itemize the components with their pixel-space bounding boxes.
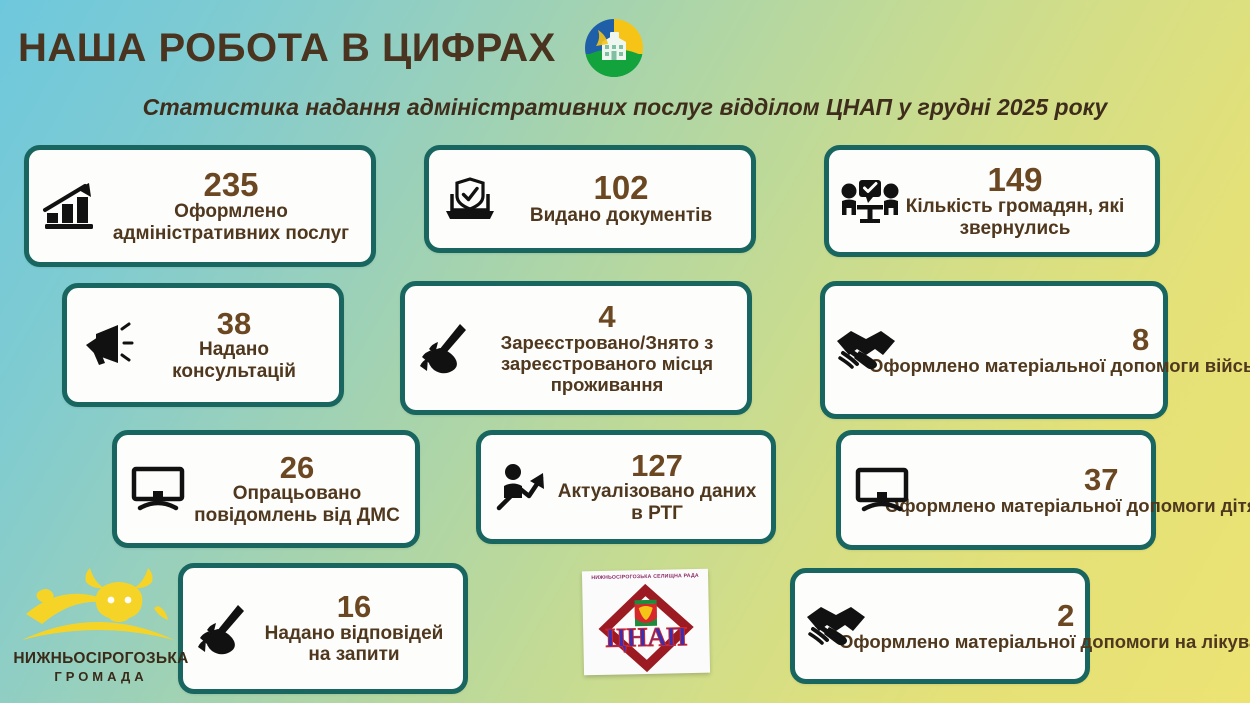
community-name-line1: НИЖНЬОСІРОГОЗЬКА bbox=[8, 650, 194, 668]
stat-card-body: 102 Видано документів bbox=[501, 171, 741, 226]
handshake-icon bbox=[835, 319, 897, 381]
cnap-acronym: ЦНАП bbox=[605, 621, 687, 653]
stat-label: Видано документів bbox=[503, 205, 739, 227]
stat-card-documents-issued: 102 Видано документів bbox=[424, 145, 756, 253]
stat-number: 235 bbox=[103, 168, 359, 202]
monitor-icon bbox=[127, 458, 189, 520]
stat-number: 37 bbox=[885, 464, 1250, 496]
stat-card-body: 8 Оформлено матеріальної допомоги військ… bbox=[867, 324, 1250, 377]
community-building-emblem-icon bbox=[582, 16, 646, 80]
stat-label: Оформлено матеріальної допомоги дітям ВП… bbox=[885, 495, 1250, 516]
stat-card-consultations: 38 Надано консультацій bbox=[62, 283, 344, 407]
stat-card-body: 38 Надано консультацій bbox=[139, 308, 329, 383]
title-row: НАША РОБОТА В ЦИФРАХ bbox=[18, 16, 646, 80]
stat-card-aid-military: 8 Оформлено матеріальної допомоги військ… bbox=[820, 281, 1168, 419]
bar-chart-growth-icon bbox=[39, 175, 101, 237]
page-subtitle: Статистика надання адміністративних посл… bbox=[0, 94, 1250, 121]
stat-card-request-replies: 16 Надано відповідей на запити bbox=[178, 563, 468, 694]
stat-card-body: 2 Оформлено матеріальної допомоги на лік… bbox=[837, 600, 1250, 653]
stat-label: Надано відповідей на запити bbox=[257, 623, 451, 666]
stat-number: 127 bbox=[555, 450, 759, 482]
cnap-logo: НИЖНЬОСІРОГОЗЬКА СЕЛИЩНА РАДА ЦНАП bbox=[582, 569, 710, 676]
stat-number: 26 bbox=[191, 452, 403, 484]
stat-number: 16 bbox=[257, 591, 451, 623]
stat-card-administrative-services: 235 Оформлено адміністративних послуг bbox=[24, 145, 376, 267]
stat-card-residence-registration: 4 Зареєстровано/Знято з зареєстрованого … bbox=[400, 281, 752, 415]
stat-number: 149 bbox=[887, 163, 1143, 197]
stat-card-rtg-data-updated: 127 Актуалізовано даних в РТГ bbox=[476, 430, 776, 544]
people-meeting-icon bbox=[839, 170, 901, 232]
stat-label: Надано консультацій bbox=[141, 339, 327, 382]
header: НАША РОБОТА В ЦИФРАХ bbox=[0, 0, 1250, 132]
stat-number: 4 bbox=[479, 301, 735, 333]
stat-card-body: 149 Кількість громадян, які звернулись bbox=[885, 163, 1145, 240]
stat-label: Кількість громадян, які звернулись bbox=[887, 196, 1143, 239]
stat-label: Актуалізовано даних в РТГ bbox=[555, 481, 759, 524]
megaphone-icon bbox=[77, 314, 139, 376]
laptop-shield-check-icon bbox=[439, 168, 501, 230]
person-growth-arrow-icon bbox=[491, 456, 553, 518]
stat-card-body: 235 Оформлено адміністративних послуг bbox=[101, 168, 361, 245]
stat-label: Опрацьовано повідомлень від ДМС bbox=[191, 483, 403, 526]
bull-sunrise-emblem-icon bbox=[8, 562, 194, 650]
stat-card-aid-idp-children: 37 Оформлено матеріальної допомоги дітям… bbox=[836, 430, 1156, 550]
stat-card-body: 16 Надано відповідей на запити bbox=[255, 591, 453, 666]
stat-label: Оформлено адміністративних послуг bbox=[103, 201, 359, 244]
stat-number: 2 bbox=[839, 600, 1250, 632]
stat-number: 38 bbox=[141, 308, 327, 340]
community-name-line2: ГРОМАДА bbox=[8, 669, 194, 684]
stat-number: 102 bbox=[503, 171, 739, 205]
stat-card-body: 4 Зареєстровано/Знято з зареєстрованого … bbox=[477, 301, 737, 396]
stat-number: 8 bbox=[869, 324, 1250, 356]
stat-card-body: 37 Оформлено матеріальної допомоги дітям… bbox=[883, 464, 1250, 517]
stat-card-body: 26 Опрацьовано повідомлень від ДМС bbox=[189, 452, 405, 527]
page-title: НАША РОБОТА В ЦИФРАХ bbox=[18, 26, 556, 71]
monitor-icon bbox=[851, 459, 913, 521]
hand-writing-pen-icon bbox=[415, 317, 477, 379]
stat-card-body: 127 Актуалізовано даних в РТГ bbox=[553, 450, 761, 525]
stat-label: Оформлено матеріальної допомоги військов… bbox=[869, 355, 1250, 376]
stat-label: Оформлено матеріальної допомоги на лікув… bbox=[839, 631, 1250, 652]
stat-label: Зареєстровано/Знято з зареєстрованого мі… bbox=[479, 332, 735, 395]
stat-card-citizens-served: 149 Кількість громадян, які звернулись bbox=[824, 145, 1160, 257]
handshake-icon bbox=[805, 595, 867, 657]
stat-card-aid-treatment: 2 Оформлено матеріальної допомоги на лік… bbox=[790, 568, 1090, 684]
community-logo: НИЖНЬОСІРОГОЗЬКА ГРОМАДА bbox=[8, 562, 194, 698]
hand-writing-pen-icon bbox=[193, 598, 255, 660]
stat-card-dms-messages: 26 Опрацьовано повідомлень від ДМС bbox=[112, 430, 420, 548]
